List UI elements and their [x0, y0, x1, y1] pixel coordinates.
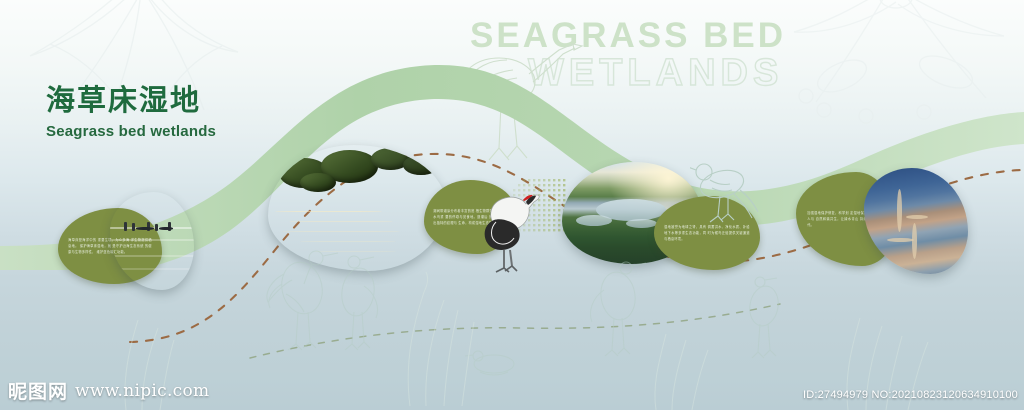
coastal-channel-photo[interactable]	[864, 168, 968, 274]
watermark-url: www.nipic.com	[75, 381, 209, 401]
botanical-flower-art-icon	[746, 0, 1024, 130]
standing-crane-line-art-icon	[455, 40, 585, 165]
headline-cn: 海草床湿地	[46, 84, 216, 117]
poster-canvas: SEAGRASS BED WETLANDS	[0, 0, 1024, 410]
headline-en: Seagrass bed wetlands	[46, 123, 216, 140]
photo-2-image	[268, 145, 446, 271]
background-title: SEAGRASS BED WETLANDS	[470, 18, 940, 102]
watermark-logo: 昵图网	[8, 377, 68, 404]
tidal-flat-rocks-photo[interactable]	[268, 145, 446, 271]
background-title-sub: WETLANDS	[528, 54, 783, 92]
headline-block: 海草床湿地 Seagrass bed wetlands	[46, 84, 216, 140]
background-title-main: SEAGRASS BED	[470, 18, 940, 53]
photo-1-figures	[120, 221, 187, 231]
red-crowned-crane[interactable]	[482, 172, 542, 276]
photo-1-image	[110, 192, 194, 290]
photo-4-image	[864, 168, 968, 274]
image-id-label: ID:27494979 NO:20210823120634910100	[803, 389, 1018, 401]
leaf-text-3: 湿地被誉为地球之肾，具有 调蓄洪水、净化水质、补给 地下水等多重生态功能，同 时…	[664, 224, 750, 242]
sunset-shoreline-photo[interactable]	[110, 192, 194, 290]
watermark: 昵图网 www.nipic.com	[8, 377, 209, 404]
